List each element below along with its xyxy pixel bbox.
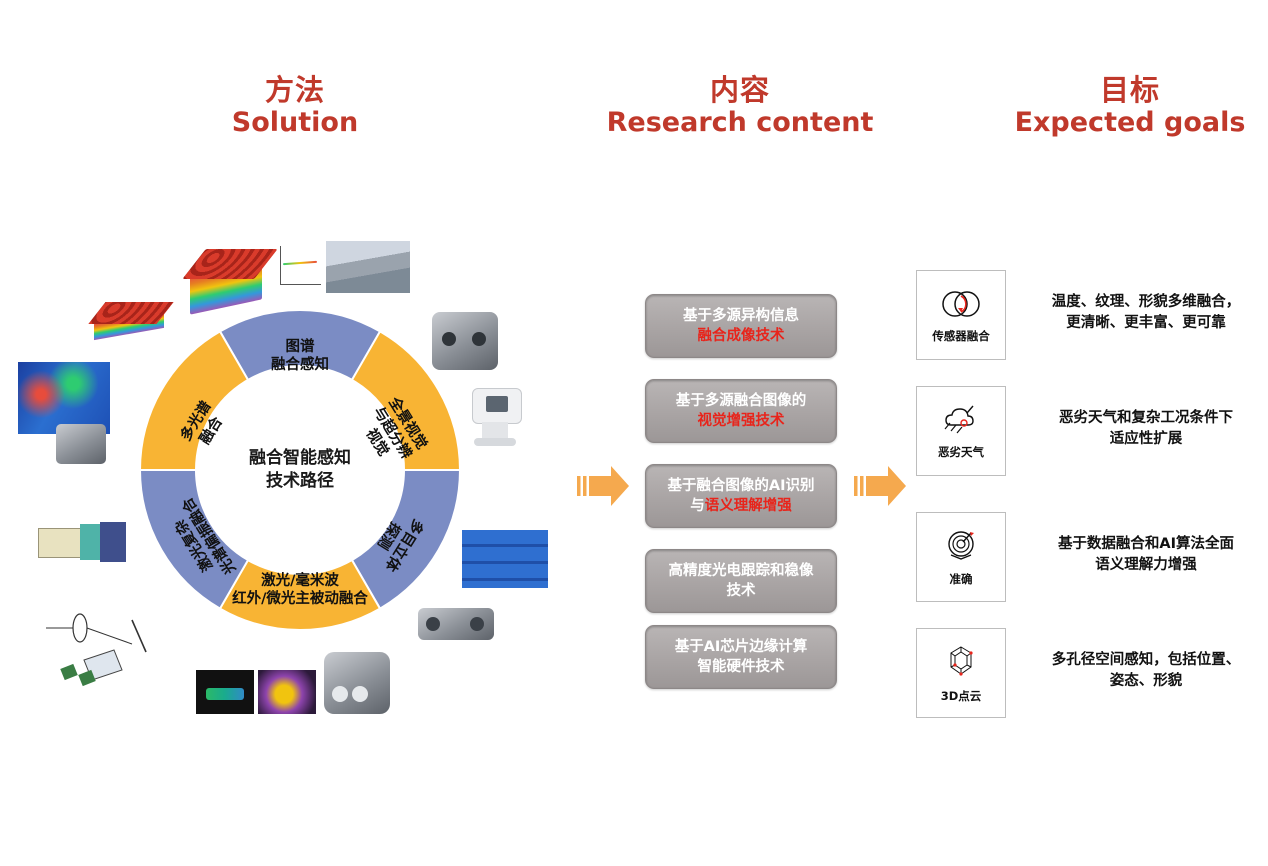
goal-card-2-caption: 恶劣天气 bbox=[938, 444, 984, 460]
header-cn-solution: 方法 bbox=[175, 74, 415, 107]
header-en-goals: Expected goals bbox=[1000, 107, 1260, 138]
goal-text-2-line1: 恶劣天气和复杂工况条件下 bbox=[1030, 408, 1262, 429]
goal-card-accuracy[interactable]: 准确 bbox=[916, 512, 1006, 602]
header-en-solution: Solution bbox=[175, 107, 415, 138]
content-box-heterogeneous-fusion-imaging[interactable]: 基于多源异构信息 融合成像技术 bbox=[645, 294, 837, 358]
thermal-scene-thumb bbox=[258, 670, 316, 714]
goal-text-2-line2: 适应性扩展 bbox=[1030, 429, 1262, 450]
content-box-ai-chip-edge-computing[interactable]: 基于AI芯片边缘计算 智能硬件技术 bbox=[645, 625, 837, 689]
point-cloud-sphere-icon bbox=[937, 643, 985, 685]
spectral-plot-thumb bbox=[272, 240, 324, 296]
header-cn-goals: 目标 bbox=[1000, 74, 1260, 107]
lidar-pointcloud-thumb bbox=[196, 670, 254, 714]
header-cn-content: 内容 bbox=[600, 74, 880, 107]
content-box-1-line1: 基于多源异构信息 bbox=[683, 306, 799, 326]
optical-module-thumb bbox=[38, 520, 134, 566]
goal-text-3-line2: 语义理解力增强 bbox=[1030, 555, 1262, 576]
rain-cloud-icon bbox=[937, 403, 985, 441]
content-box-tracking-stabilization[interactable]: 高精度光电跟踪和稳像 技术 bbox=[645, 549, 837, 613]
goal-text-1-line1: 温度、纹理、形貌多维融合， bbox=[1030, 292, 1262, 313]
thermal-wall-thumb bbox=[462, 530, 548, 588]
donut-segment-multispectral-fusion bbox=[140, 331, 248, 470]
gimbal-camera-thumb bbox=[324, 652, 390, 714]
target-dartboard-icon bbox=[937, 528, 985, 568]
content-box-ai-recognition-semantic[interactable]: 基于融合图像的AI识别 与语义理解增强 bbox=[645, 464, 837, 528]
content-box-5-line1: 基于AI芯片边缘计算 bbox=[675, 637, 808, 657]
donut-label-spectral-fusion-sensing: 图谱 融合感知 bbox=[271, 338, 329, 374]
donut-center-title: 融合智能感知 技术路径 bbox=[249, 447, 351, 493]
goal-card-3-caption: 准确 bbox=[950, 571, 973, 587]
goal-text-4-line2: 姿态、形貌 bbox=[1030, 671, 1262, 692]
goal-text-sensor-fusion: 温度、纹理、形貌多维融合， 更清晰、更丰富、更可靠 bbox=[1030, 292, 1262, 334]
content-box-2-line2: 视觉增强技术 bbox=[676, 411, 807, 431]
donut-center-line1: 融合智能感知 bbox=[249, 447, 351, 470]
column-header-solution: 方法 Solution bbox=[175, 74, 415, 138]
content-box-4-line1: 高精度光电跟踪和稳像 bbox=[669, 561, 814, 581]
ptz-camera-thumb bbox=[470, 388, 522, 450]
column-header-content: 内容 Research content bbox=[600, 74, 880, 138]
content-box-1-line2: 融合成像技术 bbox=[683, 326, 799, 346]
goal-card-4-caption: 3D点云 bbox=[941, 688, 982, 704]
pipeline-photo-thumb bbox=[326, 241, 410, 293]
donut-center-line2: 技术路径 bbox=[249, 470, 351, 493]
goal-text-1-line2: 更清晰、更丰富、更可靠 bbox=[1030, 313, 1262, 334]
goal-text-accuracy: 基于数据融合和AI算法全面 语义理解力增强 bbox=[1030, 534, 1262, 576]
arrow-solution-to-content bbox=[575, 462, 633, 514]
column-header-goals: 目标 Expected goals bbox=[1000, 74, 1260, 138]
arrow-content-to-goals bbox=[852, 462, 910, 514]
venn-circles-icon bbox=[937, 287, 985, 325]
solution-donut-chart: 图谱 融合感知 全景视觉 与超分辨视觉 多目立体 探测 激光/毫米波 红外/微光… bbox=[140, 310, 460, 630]
content-box-3-line2b: 语义理解增强 bbox=[705, 498, 792, 514]
content-box-3-line1: 基于融合图像的AI识别 bbox=[667, 476, 814, 496]
header-en-content: Research content bbox=[600, 107, 880, 138]
goal-card-3d-point-cloud[interactable]: 3D点云 bbox=[916, 628, 1006, 718]
donut-label-laser-mmwave-ir-fusion: 激光/毫米波 红外/微光主被动融合 bbox=[232, 572, 368, 608]
content-box-4-line2: 技术 bbox=[669, 581, 814, 601]
goal-card-sensor-fusion[interactable]: 传感器融合 bbox=[916, 270, 1006, 360]
content-box-3-line2a: 与 bbox=[690, 498, 705, 514]
goal-card-1-caption: 传感器融合 bbox=[932, 328, 990, 344]
content-box-5-line2: 智能硬件技术 bbox=[675, 657, 808, 677]
goal-text-3d-point-cloud: 多孔径空间感知，包括位置、 姿态、形貌 bbox=[1030, 650, 1262, 692]
industrial-camera-thumb bbox=[56, 424, 106, 464]
goal-text-3-line1: 基于数据融合和AI算法全面 bbox=[1030, 534, 1262, 555]
content-box-visual-enhancement[interactable]: 基于多源融合图像的 视觉增强技术 bbox=[645, 379, 837, 443]
content-box-2-line1: 基于多源融合图像的 bbox=[676, 391, 807, 411]
hyperspectral-cube-thumb bbox=[188, 243, 270, 313]
goal-text-4-line1: 多孔径空间感知，包括位置、 bbox=[1030, 650, 1262, 671]
goal-text-harsh-weather: 恶劣天气和复杂工况条件下 适应性扩展 bbox=[1030, 408, 1262, 450]
goal-card-harsh-weather[interactable]: 恶劣天气 bbox=[916, 386, 1006, 476]
